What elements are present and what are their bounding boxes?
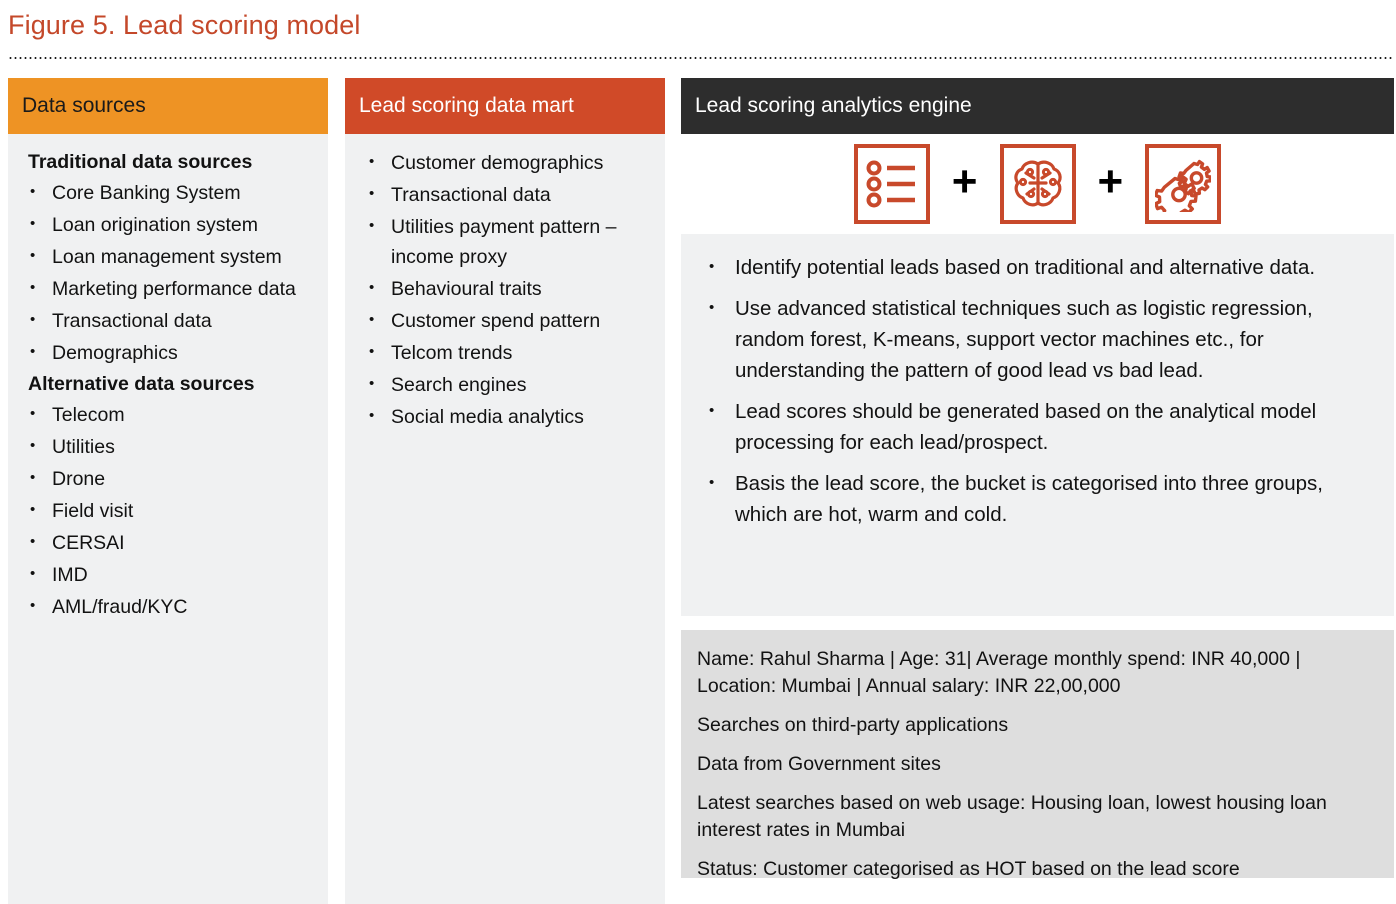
list-icon: [854, 144, 930, 224]
data-mart-list: Customer demographics Transactional data…: [357, 148, 651, 432]
customer-profile-panel: Name: Rahul Sharma | Age: 31| Average mo…: [681, 630, 1394, 878]
list-item: Loan origination system: [20, 210, 314, 240]
profile-status: Status: Customer categorised as HOT base…: [697, 856, 1376, 883]
data-sources-body: Traditional data sources Core Banking Sy…: [8, 134, 328, 904]
list-item: Basis the lead score, the bucket is cate…: [693, 468, 1374, 530]
group-title-traditional: Traditional data sources: [28, 148, 314, 176]
list-item: IMD: [20, 560, 314, 590]
list-item: Transactional data: [20, 306, 314, 336]
list-item: Transactional data: [357, 180, 651, 210]
group-title-alternative: Alternative data sources: [28, 370, 314, 398]
profile-identity: Name: Rahul Sharma | Age: 31| Average mo…: [697, 646, 1376, 700]
analytics-engine-icon-strip: +: [681, 134, 1394, 234]
gears-icon: [1145, 144, 1221, 224]
data-sources-header: Data sources: [8, 78, 328, 134]
list-item: Core Banking System: [20, 178, 314, 208]
alternative-data-list: Telecom Utilities Drone Field visit CERS…: [20, 400, 314, 622]
list-item: Utilities payment pattern – income proxy: [357, 212, 651, 272]
data-mart-body: Customer demographics Transactional data…: [345, 134, 665, 904]
list-item: Drone: [20, 464, 314, 494]
figure-title: Figure 5. Lead scoring model: [8, 8, 361, 42]
plus-icon: +: [952, 160, 978, 208]
list-item: Lead scores should be generated based on…: [693, 396, 1374, 458]
list-item: Telecom: [20, 400, 314, 430]
list-item: Social media analytics: [357, 402, 651, 432]
list-item: Use advanced statistical techniques such…: [693, 293, 1374, 386]
profile-latest-searches: Latest searches based on web usage: Hous…: [697, 790, 1376, 844]
profile-government-data: Data from Government sites: [697, 751, 1376, 778]
list-item: Customer demographics: [357, 148, 651, 178]
column-data-mart: Lead scoring data mart Customer demograp…: [345, 78, 665, 904]
list-item: Customer spend pattern: [357, 306, 651, 336]
list-item: AML/fraud/KYC: [20, 592, 314, 622]
analytics-engine-header: Lead scoring analytics engine: [681, 78, 1394, 134]
list-item: Demographics: [20, 338, 314, 368]
analytics-engine-points-list: Identify potential leads based on tradit…: [693, 252, 1374, 530]
list-item: CERSAI: [20, 528, 314, 558]
title-divider: [8, 57, 1393, 59]
list-item: Identify potential leads based on tradit…: [693, 252, 1374, 283]
plus-icon: +: [1098, 160, 1124, 208]
list-item: Utilities: [20, 432, 314, 462]
data-mart-header: Lead scoring data mart: [345, 78, 665, 134]
traditional-data-list: Core Banking System Loan origination sys…: [20, 178, 314, 368]
list-item: Behavioural traits: [357, 274, 651, 304]
figure-container: Figure 5. Lead scoring model Data source…: [0, 0, 1396, 904]
list-item: Field visit: [20, 496, 314, 526]
list-item: Marketing performance data: [20, 274, 314, 304]
column-data-sources: Data sources Traditional data sources Co…: [8, 78, 328, 904]
list-item: Loan management system: [20, 242, 314, 272]
list-item: Telcom trends: [357, 338, 651, 368]
brain-icon: [1000, 144, 1076, 224]
list-item: Search engines: [357, 370, 651, 400]
column-analytics-engine: Lead scoring analytics engine +: [681, 78, 1394, 878]
analytics-engine-points-panel: Identify potential leads based on tradit…: [681, 234, 1394, 616]
profile-searches: Searches on third-party applications: [697, 712, 1376, 739]
